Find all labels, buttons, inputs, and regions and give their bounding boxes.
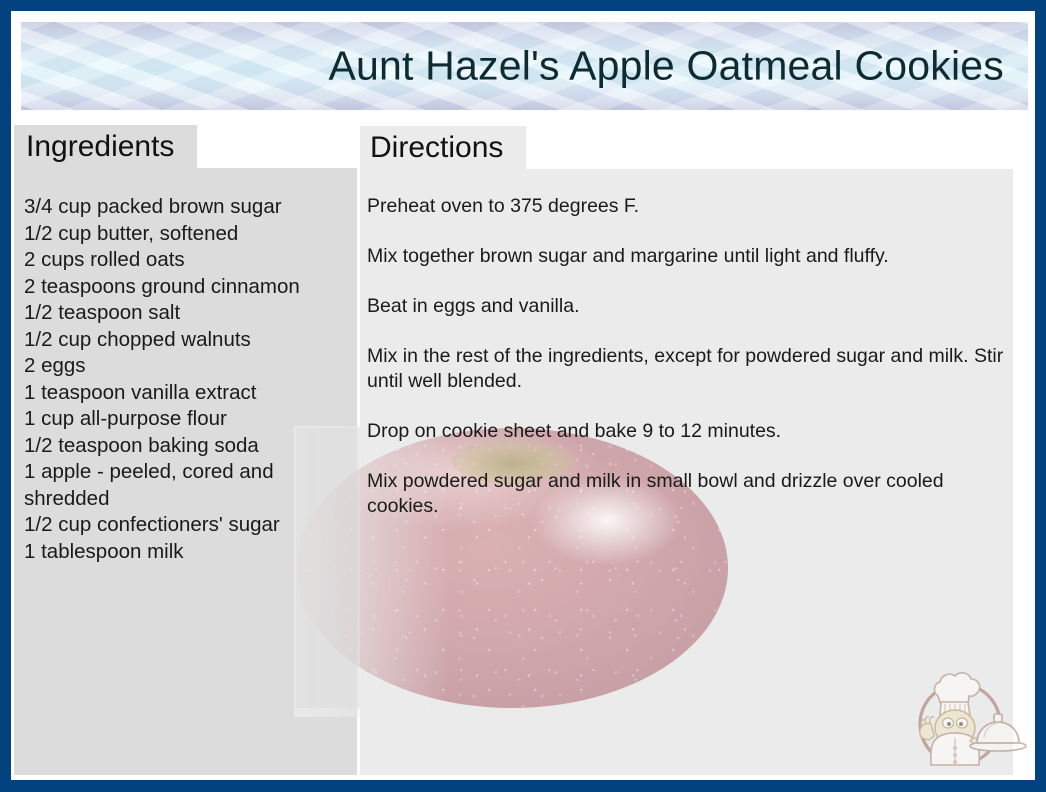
ingredient-item: 3/4 cup packed brown sugar (24, 194, 344, 221)
ingredient-item: 1 tablespoon milk (24, 539, 344, 566)
ingredient-item: 1/2 cup butter, softened (24, 221, 344, 248)
ingredients-header-tab: Ingredients (14, 125, 197, 168)
frame-border-top (0, 0, 1046, 11)
ingredients-list: 3/4 cup packed brown sugar1/2 cup butter… (24, 194, 344, 565)
ingredient-item: 1 apple - peeled, cored and shredded (24, 459, 344, 512)
ingredient-item: 2 cups rolled oats (24, 247, 344, 274)
directions-list: Preheat oven to 375 degrees F.Mix togeth… (367, 194, 1011, 519)
recipe-card-page: Aunt Hazel's Apple Oatmeal Cookies Ingre… (0, 0, 1046, 792)
frame-border-bottom (0, 780, 1046, 792)
direction-step: Mix together brown sugar and margarine u… (367, 244, 1011, 269)
directions-heading: Directions (370, 133, 503, 163)
ingredient-item: 1 teaspoon vanilla extract (24, 380, 344, 407)
direction-step: Mix in the rest of the ingredients, exce… (367, 344, 1011, 394)
frame-border-left (0, 0, 11, 792)
direction-step: Mix powdered sugar and milk in small bow… (367, 469, 1011, 519)
direction-step: Preheat oven to 375 degrees F. (367, 194, 1011, 219)
ingredient-item: 2 eggs (24, 353, 344, 380)
direction-step: Drop on cookie sheet and bake 9 to 12 mi… (367, 419, 1011, 444)
ingredient-item: 1/2 teaspoon baking soda (24, 433, 344, 460)
title-banner: Aunt Hazel's Apple Oatmeal Cookies (21, 22, 1028, 110)
ingredient-item: 2 teaspoons ground cinnamon (24, 274, 344, 301)
ingredients-heading: Ingredients (26, 132, 174, 162)
direction-step: Beat in eggs and vanilla. (367, 294, 1011, 319)
directions-header-tab: Directions (360, 126, 526, 169)
frame-border-right (1035, 0, 1046, 792)
ingredient-item: 1/2 cup chopped walnuts (24, 327, 344, 354)
ingredient-item: 1 cup all-purpose flour (24, 406, 344, 433)
ingredient-item: 1/2 teaspoon salt (24, 300, 344, 327)
page-title: Aunt Hazel's Apple Oatmeal Cookies (328, 46, 1004, 87)
ingredient-item: 1/2 cup confectioners' sugar (24, 512, 344, 539)
